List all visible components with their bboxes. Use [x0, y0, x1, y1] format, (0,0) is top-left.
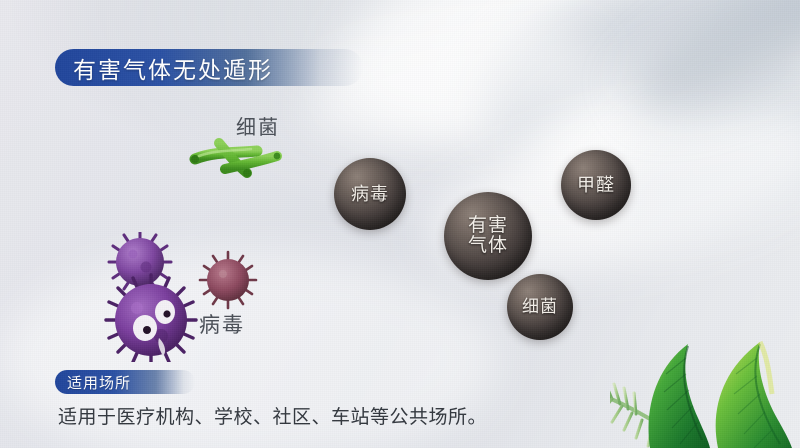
sphere-harmful-gas-label-line1: 有害 — [468, 216, 508, 236]
title-badge: 有害气体无处遁形 — [55, 49, 363, 86]
title-text: 有害气体无处遁形 — [73, 51, 273, 85]
place-badge-text: 适用场所 — [67, 372, 131, 393]
sphere-formaldehyde-label: 甲醛 — [577, 176, 615, 195]
virus-label: 病毒 — [199, 309, 245, 339]
sphere-formaldehyde: 甲醛 — [561, 150, 631, 220]
cloud-wisp — [613, 0, 800, 139]
cloud-wisp — [456, 0, 800, 184]
sphere-bacteria-label: 细菌 — [522, 298, 558, 316]
cloud-wisp — [590, 43, 800, 257]
sphere-harmful-gas-label-line2: 气体 — [468, 236, 508, 256]
place-badge: 适用场所 — [55, 370, 195, 394]
cloud-wisp — [312, 0, 768, 174]
cloud-wisp — [511, 0, 800, 216]
place-description: 适用于医疗机构、学校、社区、车站等公共场所。 — [58, 402, 487, 429]
bacteria-illustration — [185, 135, 295, 183]
poster-canvas: 有害气体无处遁形 细菌 — [0, 0, 800, 448]
virus-illustration — [95, 232, 275, 362]
leaf-illustration — [610, 288, 800, 448]
sphere-virus-label: 病毒 — [351, 185, 389, 204]
sphere-virus: 病毒 — [334, 158, 406, 230]
sphere-bacteria: 细菌 — [507, 274, 573, 340]
sphere-harmful-gas: 有害 气体 — [444, 192, 532, 280]
bacteria-label: 细菌 — [236, 111, 280, 140]
